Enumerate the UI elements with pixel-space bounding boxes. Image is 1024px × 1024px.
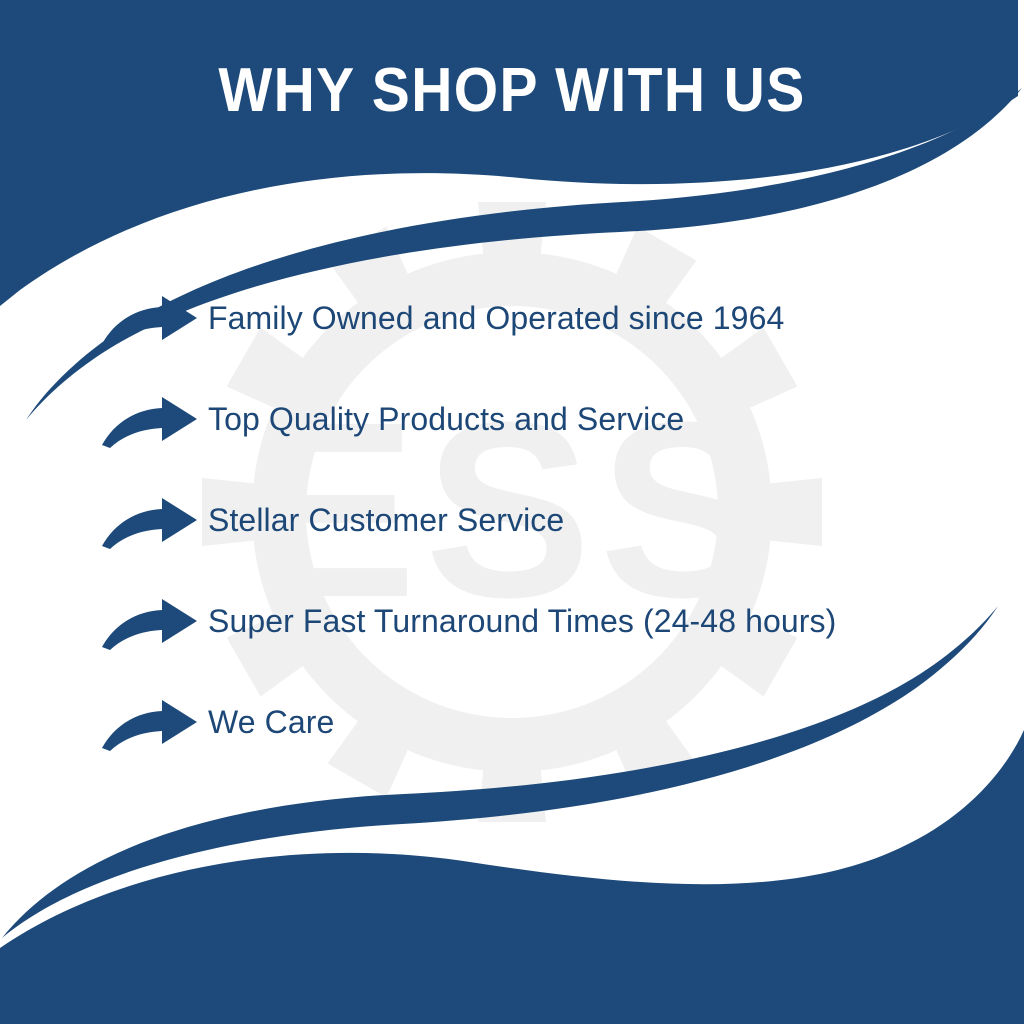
list-item: Family Owned and Operated since 1964 (100, 292, 980, 393)
page-title: WHY SHOP WITH US (41, 56, 983, 126)
benefits-list: Family Owned and Operated since 1964 Top… (100, 292, 980, 797)
list-item: Super Fast Turnaround Times (24-48 hours… (100, 595, 980, 696)
list-item: Stellar Customer Service (100, 494, 980, 595)
list-item-label: Top Quality Products and Service (208, 399, 980, 439)
list-item-label: Stellar Customer Service (208, 500, 980, 540)
curved-arrow-icon (100, 395, 200, 451)
list-item-label: Super Fast Turnaround Times (24-48 hours… (208, 601, 980, 641)
list-item: We Care (100, 696, 980, 797)
promo-graphic: ESS WHY SHOP WITH US Family Owned and Op… (0, 0, 1024, 1024)
list-item-label: We Care (208, 702, 980, 742)
curved-arrow-icon (100, 597, 200, 653)
list-item: Top Quality Products and Service (100, 393, 980, 494)
curved-arrow-icon (100, 698, 200, 754)
curved-arrow-icon (100, 294, 200, 350)
curved-arrow-icon (100, 496, 200, 552)
list-item-label: Family Owned and Operated since 1964 (208, 298, 980, 338)
